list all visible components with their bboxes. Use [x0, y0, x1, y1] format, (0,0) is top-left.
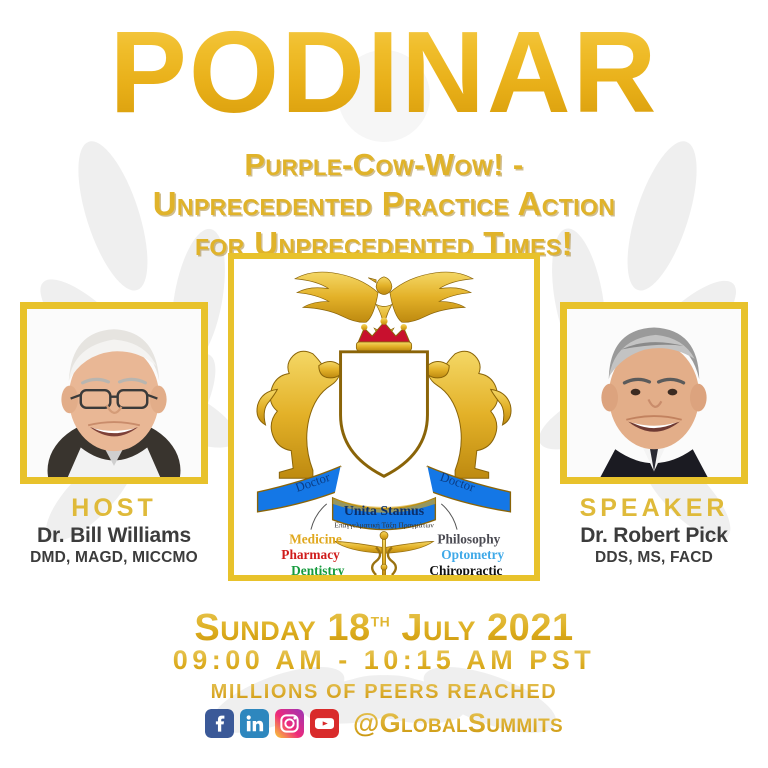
crest-motto: Unita Stamus — [344, 503, 425, 518]
event-date-prefix: Sunday 18 — [194, 607, 370, 649]
crest-emblem-frame: Doctor Doctor Unita Stamus Επαγγελματική… — [228, 253, 540, 581]
facebook-icon[interactable] — [205, 709, 234, 738]
page-subtitle: Purple-Cow-Wow! - Unprecedented Practice… — [0, 146, 768, 264]
host-role-label: HOST — [14, 494, 214, 523]
discipline-philosophy: Philosophy — [437, 531, 500, 546]
host-card: HOST Dr. Bill Williams DMD, MAGD, MICCMO — [14, 302, 214, 567]
subtitle-line-2: Unprecedented Practice Action — [0, 184, 768, 224]
discipline-optometry: Optometry — [441, 547, 504, 562]
subtitle-line-1: Purple-Cow-Wow! - — [0, 146, 768, 184]
speaker-role-label: SPEAKER — [554, 494, 754, 523]
social-handle[interactable]: @GlobalSummits — [353, 708, 563, 739]
event-date: Sunday 18th July 2021 — [0, 607, 768, 650]
page-title: PODINAR — [0, 14, 768, 130]
event-time: 09:00 AM - 10:15 AM PST — [0, 645, 768, 676]
speaker-portrait — [567, 309, 741, 477]
event-date-ordinal: th — [371, 609, 391, 631]
host-credentials: DMD, MAGD, MICCMO — [14, 549, 214, 567]
crest-motto-greek: Επαγγελματική Τάξη Πραγμάτων — [334, 521, 434, 530]
disciplines-list: Medicine Pharmacy Dentistry Philosophy O… — [281, 531, 504, 575]
caduceus-icon — [335, 532, 434, 575]
speaker-credentials: DDS, MS, FACD — [554, 549, 754, 567]
shield — [341, 352, 428, 478]
reach-label: MILLIONS OF PEERS REACHED — [0, 681, 768, 704]
instagram-icon[interactable] — [275, 709, 304, 738]
discipline-dentistry: Dentistry — [291, 563, 345, 575]
event-date-suffix: July 2021 — [390, 607, 573, 649]
host-portrait — [27, 309, 201, 477]
speaker-card: SPEAKER Dr. Robert Pick DDS, MS, FACD — [554, 302, 754, 567]
coat-of-arms-crest: Doctor Doctor Unita Stamus Επαγγελματική… — [234, 259, 534, 575]
host-name: Dr. Bill Williams — [14, 524, 214, 548]
host-photo-frame — [20, 302, 208, 484]
discipline-chiropractic: Chiropractic — [429, 563, 502, 575]
speaker-photo-frame — [560, 302, 748, 484]
linkedin-icon[interactable] — [240, 709, 269, 738]
discipline-medicine: Medicine — [289, 531, 342, 546]
social-links-row: @GlobalSummits — [0, 708, 768, 739]
speaker-name: Dr. Robert Pick — [554, 524, 754, 548]
youtube-icon[interactable] — [310, 709, 339, 738]
discipline-pharmacy: Pharmacy — [281, 547, 340, 562]
